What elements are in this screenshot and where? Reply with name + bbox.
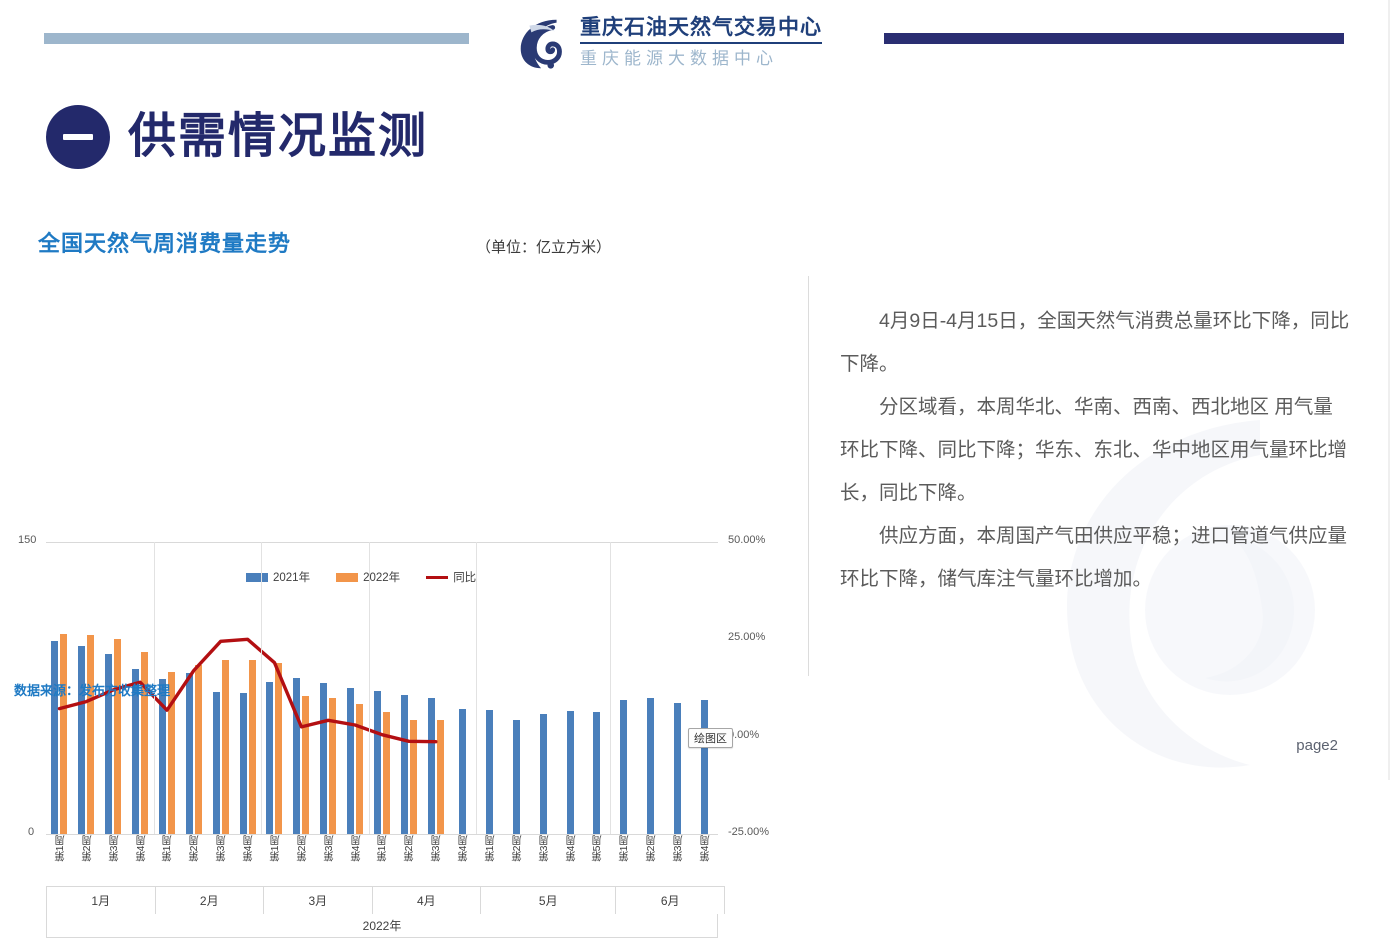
x-tick-text: 第1周 [374,835,389,864]
x-tick-label: 第3周 [530,835,557,887]
plot-area-tooltip: 绘图区 [688,728,733,748]
x-tick-text: 第2周 [509,835,524,864]
x-tick-label: 第1周 [610,835,637,887]
x-tick-label: 第1周 [261,835,288,887]
y2-axis-tick-25: 25.00% [728,631,765,643]
brand-logo: 重庆石油天然气交易中心 重庆能源大数据中心 [512,8,852,78]
x-tick-text: 第4周 [240,835,255,864]
y-axis-tick-0: 0 [28,826,34,838]
x-tick-label: 第2周 [395,835,422,887]
x-tick-label: 第5周 [584,835,611,887]
x-tick-text: 第1周 [267,835,282,864]
x-tick-text: 第3周 [213,835,228,864]
x-tick-label: 第4周 [234,835,261,887]
month-separator [610,542,611,834]
x-tick-text: 第4周 [697,835,712,864]
x-tick-text: 第4周 [348,835,363,864]
chart-unit-label: （单位：亿立方米） [476,236,611,257]
x-tick-label: 第2周 [180,835,207,887]
x-tick-label: 第4周 [691,835,718,887]
x-axis-year-label: 2022年 [46,914,718,938]
x-tick-label: 第3周 [664,835,691,887]
commentary-panel: 4月9日-4月15日，全国天然气消费总量环比下降，同比下降。分区域看，本周华北、… [840,300,1352,601]
x-tick-text: 第2周 [79,835,94,864]
x-tick-label: 第1周 [369,835,396,887]
x-tick-label: 第3周 [100,835,127,887]
x-tick-label: 第2周 [503,835,530,887]
x-axis-week-labels: 第1周第2周第3周第4周第1周第2周第3周第4周第1周第2周第3周第4周第1周第… [46,834,718,887]
logo-line-1: 重庆石油天然气交易中心 [580,15,822,44]
header-rule-left [44,33,469,44]
page-number: page2 [1296,737,1338,754]
x-tick-label: 第1周 [476,835,503,887]
commentary-paragraph: 供应方面，本周国产气田供应平稳；进口管道气供应量环比下降，储气库注气量环比增加。 [840,515,1352,601]
x-tick-label: 第3周 [207,835,234,887]
x-tick-label: 第4周 [449,835,476,887]
swirl-c-logo-icon [512,12,574,74]
chart-container: 150 0 50.00% 25.00% 0.00% -25.00% 2021年 … [0,266,790,666]
x-tick-text: 第4周 [133,835,148,864]
x-tick-text: 第4周 [563,835,578,864]
x-tick-text: 第3周 [428,835,443,864]
data-source-note: 数据来源：发布方收集整理 [14,680,170,699]
page-title: 供需情况监测 [128,104,428,168]
y2-axis-tick-50: 50.00% [728,534,765,546]
x-tick-text: 第5周 [589,835,604,864]
y-axis-tick-150: 150 [18,534,36,546]
header-rule-right [884,33,1344,44]
x-tick-label: 第2周 [637,835,664,887]
x-tick-label: 第1周 [154,835,181,887]
x-tick-text: 第1周 [482,835,497,864]
month-separator [261,542,262,834]
x-tick-text: 第3周 [321,835,336,864]
vertical-divider [808,276,809,676]
x-tick-text: 第3周 [536,835,551,864]
x-tick-text: 第2周 [401,835,416,864]
x-tick-text: 第3周 [106,835,121,864]
x-tick-text: 第2周 [294,835,309,864]
x-tick-text: 第1周 [159,835,174,864]
x-tick-text: 第3周 [670,835,685,864]
x-tick-label: 第3周 [315,835,342,887]
x-tick-text: 第4周 [455,835,470,864]
commentary-paragraph: 4月9日-4月15日，全国天然气消费总量环比下降，同比下降。 [840,300,1352,386]
x-tick-label: 第2周 [288,835,315,887]
y2-axis-tick-neg25: -25.00% [728,826,769,838]
x-tick-label: 第4周 [557,835,584,887]
x-tick-text: 第1周 [52,835,67,864]
month-label: 1月 [46,886,155,914]
x-tick-text: 第2周 [643,835,658,864]
x-tick-label: 第2周 [73,835,100,887]
month-separator [369,542,370,834]
logo-line-2: 重庆能源大数据中心 [580,44,822,72]
commentary-paragraph: 分区域看，本周华北、华南、西南、西北地区 用气量环比下降、同比下降；华东、东北、… [840,386,1352,515]
x-tick-text: 第1周 [616,835,631,864]
month-label: 3月 [263,886,372,914]
x-tick-label: 第3周 [422,835,449,887]
month-label: 5月 [480,886,615,914]
x-tick-label: 第1周 [46,835,73,887]
month-label: 6月 [615,886,725,914]
section-badge-dash-icon [63,134,93,140]
x-axis-month-labels: 1月2月3月4月5月6月 [46,886,718,914]
month-label: 4月 [372,886,481,914]
x-tick-label: 第4周 [342,835,369,887]
x-tick-text: 第2周 [186,835,201,864]
section-badge [46,105,110,169]
month-separator [476,542,477,834]
chart-title: 全国天然气周消费量走势 [38,226,291,258]
x-tick-label: 第4周 [127,835,154,887]
month-label: 2月 [155,886,264,914]
